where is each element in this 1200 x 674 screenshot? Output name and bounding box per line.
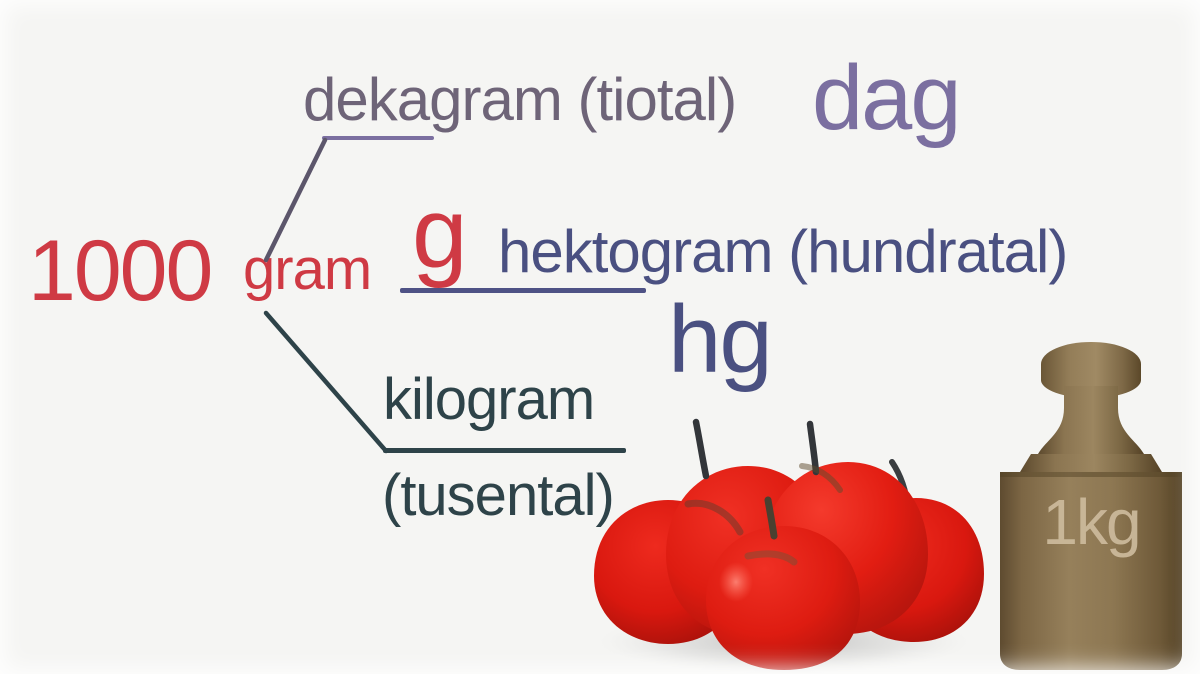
thousand-quantity: 1000	[28, 228, 211, 314]
diagram-canvas: dekagram (tiotal) dag 1000 gram g hektog…	[0, 0, 1200, 674]
calibration-weight-illustration: 1kg	[986, 336, 1196, 674]
apple-highlight	[719, 562, 753, 602]
apple-stem-top-left	[696, 422, 706, 476]
tusental-label: (tusental)	[382, 467, 614, 525]
gram-label: gram	[243, 241, 371, 299]
red-apple-cluster-illustration	[588, 404, 988, 674]
weight-label: 1kg	[1042, 486, 1139, 558]
g-symbol: g	[412, 183, 466, 283]
hg-symbol: hg	[668, 292, 771, 388]
hektogram-label: hektogram (hundratal)	[498, 222, 1067, 282]
weight-shoulder	[1020, 454, 1162, 472]
dekagram-label: dekagram (tiotal)	[303, 70, 736, 130]
dekagram-underline	[322, 136, 434, 140]
hektogram-underline	[400, 288, 646, 293]
dag-symbol: dag	[812, 52, 960, 144]
kilogram-label: kilogram	[383, 371, 594, 429]
weight-body-top-edge	[1000, 472, 1182, 477]
weight-neck	[1038, 386, 1144, 454]
kilogram-leader-line	[266, 313, 386, 451]
